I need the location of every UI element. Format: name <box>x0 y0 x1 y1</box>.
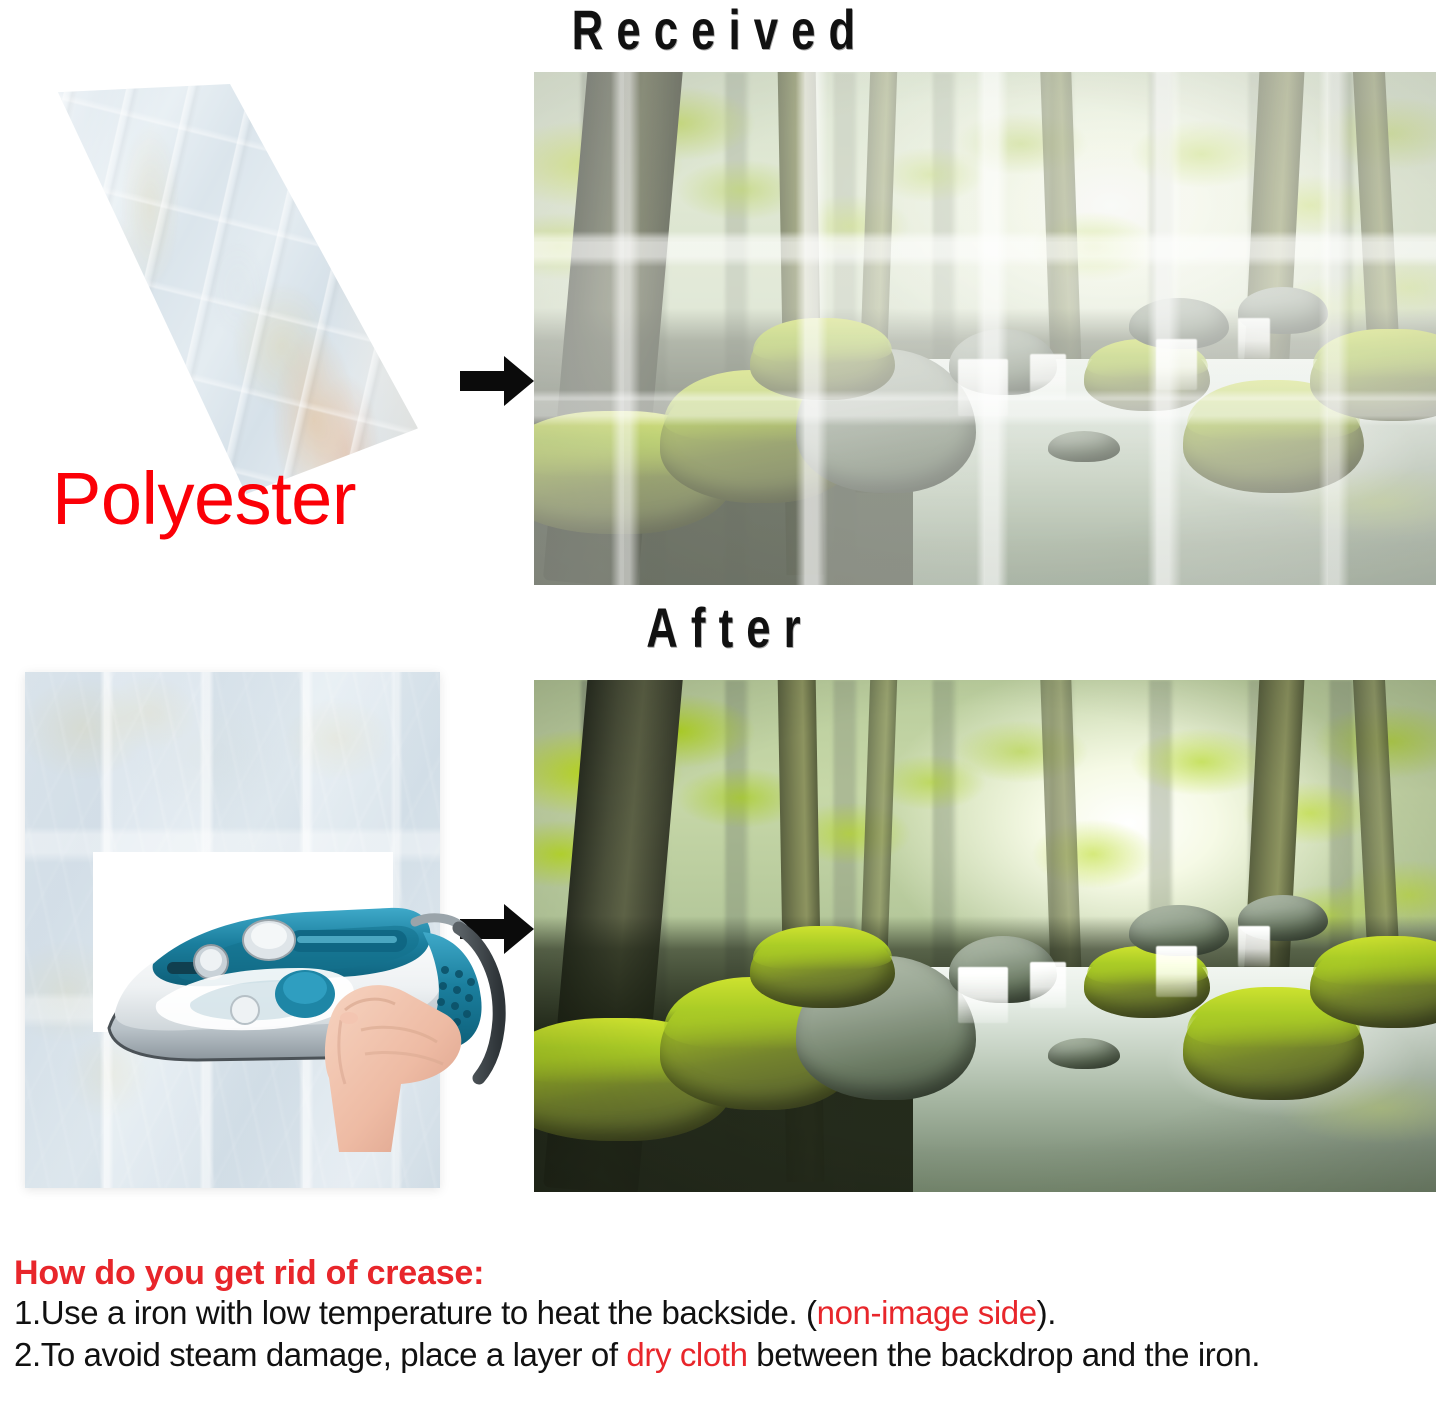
care-step-1-highlight: non-image side <box>817 1294 1037 1331</box>
care-step-1: 1.Use a iron with low temperature to hea… <box>14 1292 1434 1334</box>
forest-vignette-after <box>534 680 1436 1192</box>
section-title-received: Received <box>431 2 1008 58</box>
fabric-edge-shadow <box>18 84 418 494</box>
care-step-2-part2: between the backdrop and the iron. <box>748 1336 1261 1373</box>
care-heading: How do you get rid of crease: <box>14 1254 1434 1292</box>
care-step-1-part2: ). <box>1037 1294 1056 1331</box>
received-backdrop-photo <box>534 72 1436 585</box>
folded-fabric-image <box>18 84 418 494</box>
section-title-after: After <box>457 600 1003 656</box>
arrow-right-icon <box>458 352 536 410</box>
care-step-2: 2.To avoid steam damage, place a layer o… <box>14 1334 1434 1376</box>
care-instructions: How do you get rid of crease: 1.Use a ir… <box>14 1254 1434 1377</box>
received-crease-lines <box>534 72 1436 585</box>
steam-iron-icon <box>93 852 523 1152</box>
care-step-1-part1: 1.Use a iron with low temperature to hea… <box>14 1294 817 1331</box>
ironing-photo <box>93 852 393 1032</box>
care-step-2-highlight: dry cloth <box>626 1336 747 1373</box>
after-backdrop-photo <box>534 680 1436 1192</box>
infographic-page: Received Polyester <box>0 0 1436 1402</box>
material-label-polyester: Polyester <box>52 462 356 536</box>
care-step-2-part1: 2.To avoid steam damage, place a layer o… <box>14 1336 626 1373</box>
